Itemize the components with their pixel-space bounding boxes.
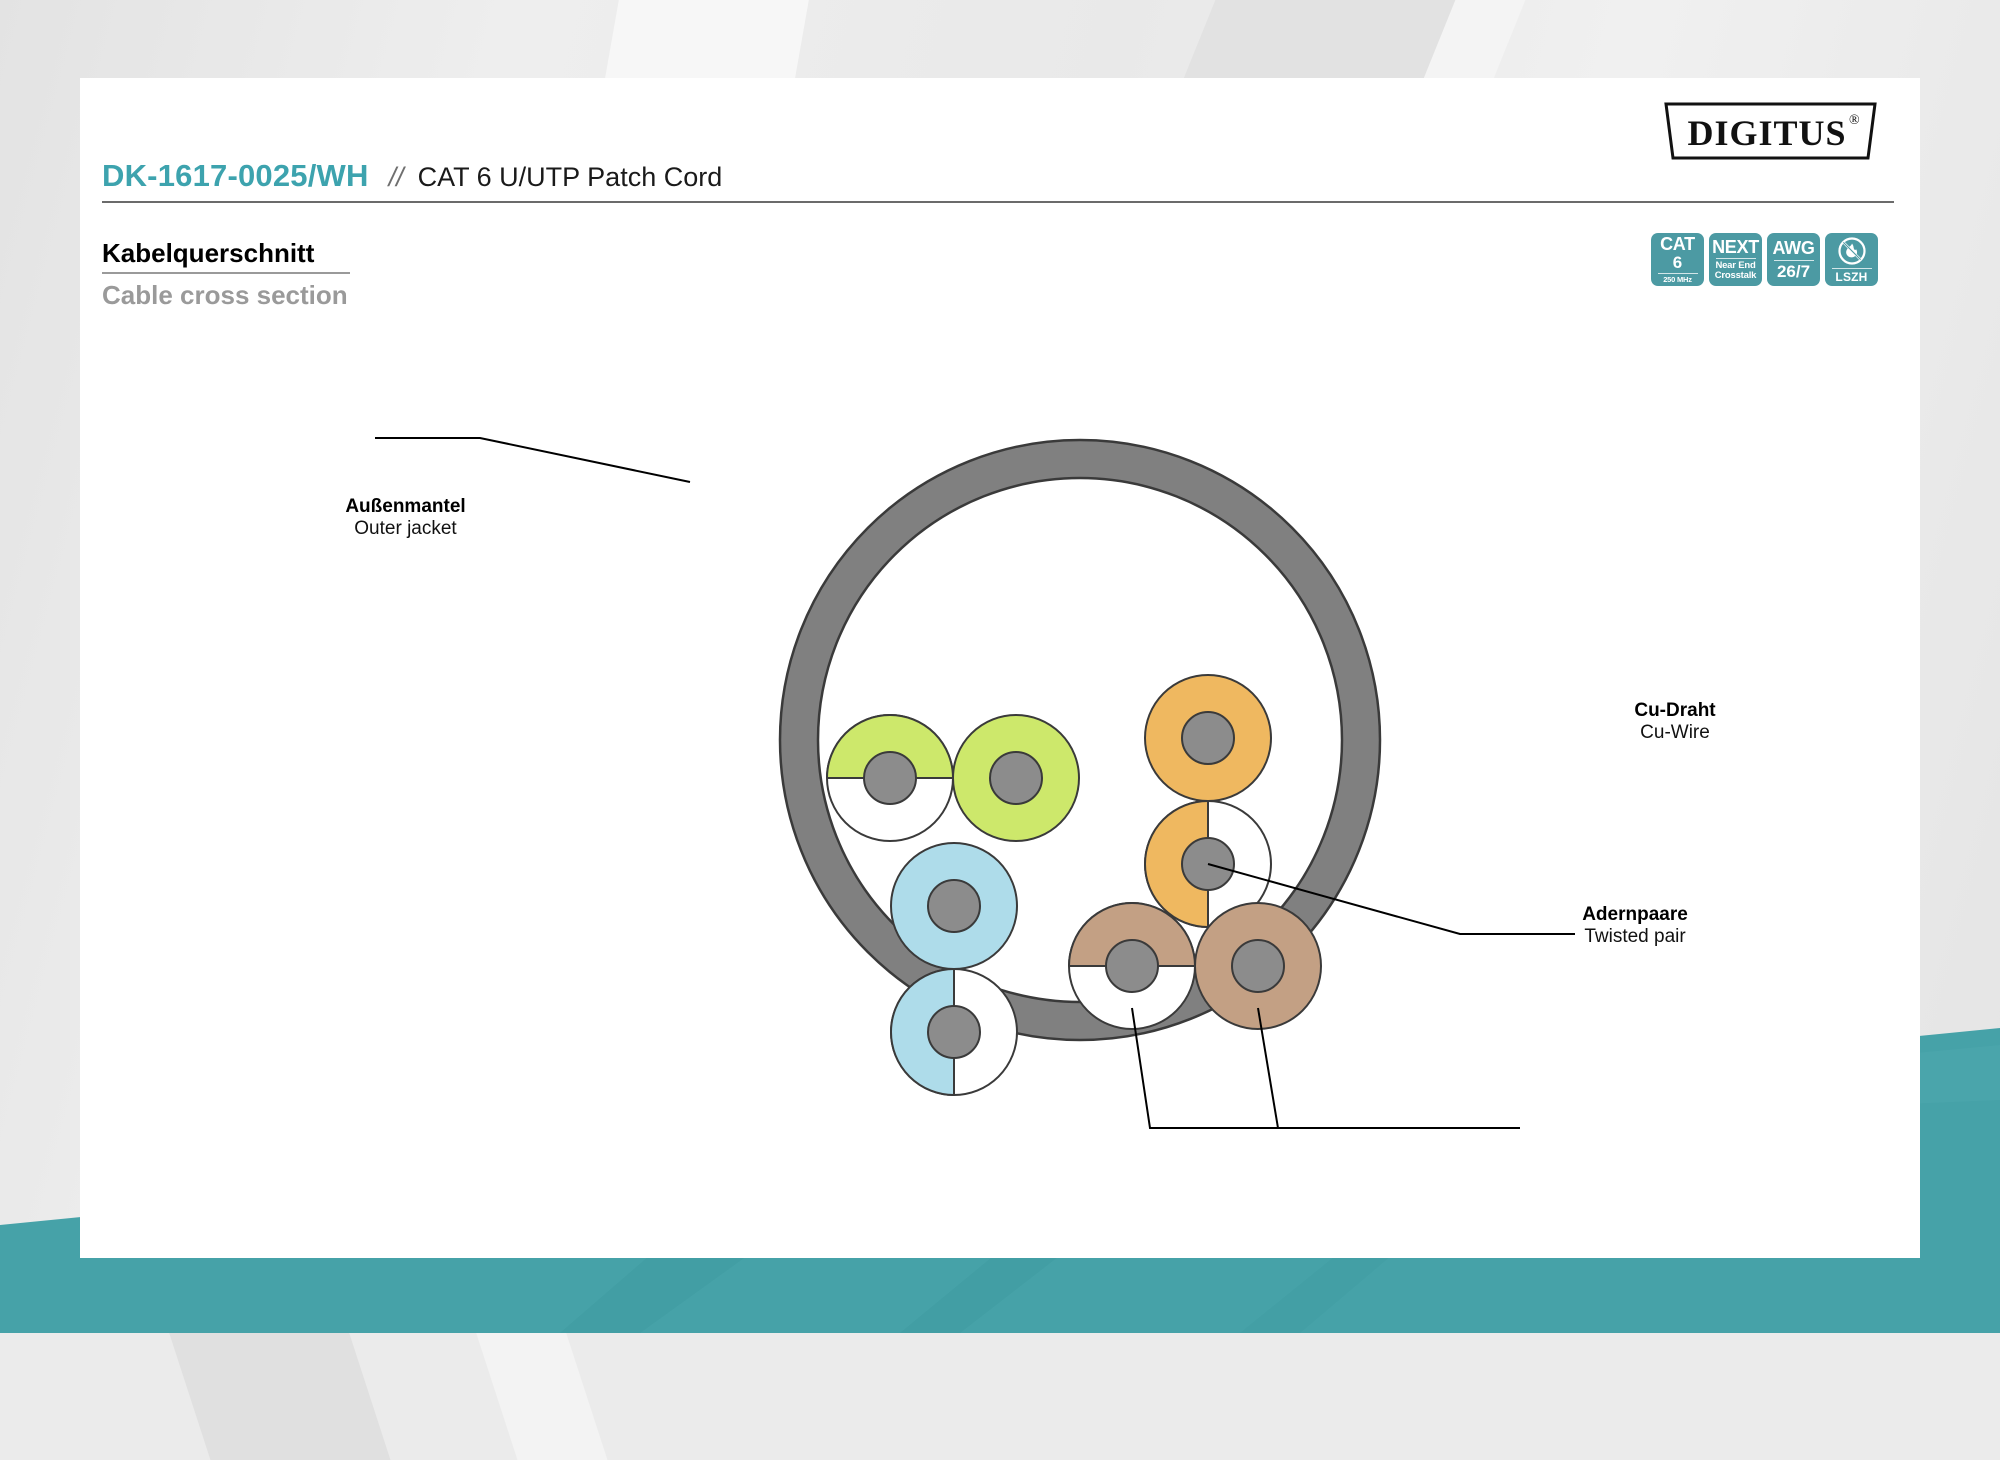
- badge-awg-value: 26/7: [1777, 263, 1810, 281]
- leader-outer-jacket: [375, 438, 690, 482]
- annotation-cu-wire: Cu-Draht Cu-Wire: [1590, 700, 1760, 745]
- wire-green-solid: [953, 715, 1079, 841]
- section-title-en: Cable cross section: [102, 280, 350, 311]
- annotation-twisted-pair-en: Twisted pair: [1535, 926, 1735, 948]
- no-flame-icon: [1837, 236, 1867, 266]
- badge-divider: [1832, 268, 1872, 269]
- badge-next[interactable]: NEXT Near End Crosstalk: [1709, 233, 1762, 286]
- annotation-twisted-pair-de: Adernpaare: [1535, 904, 1735, 926]
- section-heading: Kabelquerschnitt Cable cross section: [102, 238, 350, 311]
- title-separator: //: [389, 162, 404, 193]
- badge-divider: [1716, 258, 1756, 259]
- badge-lszh[interactable]: LSZH: [1825, 233, 1878, 286]
- annotation-outer-jacket: Außenmantel Outer jacket: [308, 496, 503, 541]
- annotation-outer-jacket-en: Outer jacket: [308, 518, 503, 540]
- wire-blue-white: [891, 969, 1017, 1095]
- product-description: CAT 6 U/UTP Patch Cord: [418, 162, 723, 193]
- badge-divider: [1774, 260, 1814, 261]
- annotation-cu-wire-de: Cu-Draht: [1590, 700, 1760, 722]
- wire-orange-solid: [1145, 675, 1271, 801]
- badge-next-line2: Crosstalk: [1715, 271, 1757, 281]
- logo-wordmark: DIGITUS: [1687, 113, 1846, 153]
- wire-blue-solid: [891, 843, 1017, 969]
- annotation-twisted-pair: Adernpaare Twisted pair: [1535, 904, 1735, 949]
- badge-cat6-main: CAT: [1660, 235, 1695, 254]
- badge-awg-main: AWG: [1772, 239, 1814, 258]
- feature-badge-row: CAT 6 250 MHz NEXT Near End Crosstalk AW…: [1651, 233, 1878, 286]
- product-title-bar: DK-1617-0025/WH // CAT 6 U/UTP Patch Cor…: [102, 158, 1894, 203]
- badge-cat6-value: 6: [1673, 254, 1682, 272]
- badge-awg[interactable]: AWG 26/7: [1767, 233, 1820, 286]
- annotation-outer-jacket-de: Außenmantel: [308, 496, 503, 518]
- badge-next-main: NEXT: [1712, 238, 1759, 257]
- wire-green-white: [827, 715, 953, 841]
- annotation-cu-wire-en: Cu-Wire: [1590, 722, 1760, 744]
- badge-cat6-footnote: 250 MHz: [1663, 276, 1692, 284]
- badge-cat6[interactable]: CAT 6 250 MHz: [1651, 233, 1704, 286]
- leader-twisted-pair-a: [1132, 1008, 1520, 1128]
- section-title-de: Kabelquerschnitt: [102, 238, 350, 274]
- badge-lszh-label: LSZH: [1835, 271, 1867, 283]
- badge-divider: [1658, 273, 1698, 274]
- content-panel: DIGITUS ® DK-1617-0025/WH // CAT 6 U/UTP…: [80, 78, 1920, 1258]
- product-sku: DK-1617-0025/WH: [102, 158, 369, 194]
- digitus-logo: DIGITUS ®: [1663, 100, 1878, 162]
- logo-registered-mark: ®: [1849, 113, 1860, 128]
